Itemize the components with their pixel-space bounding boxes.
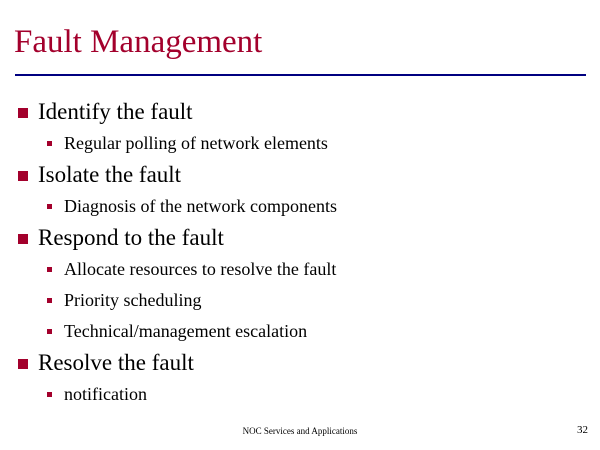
bullet-item: Identify the fault bbox=[0, 96, 600, 128]
sub-bullet-label: notification bbox=[64, 379, 147, 410]
sub-bullet-item: Priority scheduling bbox=[0, 285, 600, 316]
sub-bullet-item: Allocate resources to resolve the fault bbox=[0, 254, 600, 285]
presentation-slide: Fault Management Identify the faultRegul… bbox=[0, 0, 600, 450]
square-bullet-icon bbox=[18, 171, 28, 181]
sub-bullet-label: Diagnosis of the network components bbox=[64, 191, 337, 222]
square-bullet-icon bbox=[18, 108, 28, 118]
sub-bullet-item: Technical/management escalation bbox=[0, 316, 600, 347]
dot-bullet-icon bbox=[47, 267, 52, 272]
page-title: Fault Management bbox=[14, 22, 262, 62]
bullet-item: Respond to the fault bbox=[0, 222, 600, 254]
dot-bullet-icon bbox=[47, 392, 52, 397]
title-divider-rule bbox=[15, 74, 586, 76]
sub-bullet-item: Regular polling of network elements bbox=[0, 128, 600, 159]
dot-bullet-icon bbox=[47, 329, 52, 334]
bullet-label: Respond to the fault bbox=[38, 222, 224, 254]
square-bullet-icon bbox=[18, 234, 28, 244]
dot-bullet-icon bbox=[47, 204, 52, 209]
sub-bullet-label: Technical/management escalation bbox=[64, 316, 307, 347]
sub-bullet-label: Allocate resources to resolve the fault bbox=[64, 254, 336, 285]
slide-page-number: 32 bbox=[577, 423, 588, 437]
bullet-label: Identify the fault bbox=[38, 96, 193, 128]
footer-text: NOC Services and Applications bbox=[0, 425, 600, 437]
sub-bullet-item: Diagnosis of the network components bbox=[0, 191, 600, 222]
bullet-label: Resolve the fault bbox=[38, 347, 194, 379]
bullet-item: Resolve the fault bbox=[0, 347, 600, 379]
slide-body-list: Identify the faultRegular polling of net… bbox=[0, 96, 600, 410]
sub-bullet-label: Priority scheduling bbox=[64, 285, 202, 316]
dot-bullet-icon bbox=[47, 141, 52, 146]
square-bullet-icon bbox=[18, 359, 28, 369]
sub-bullet-label: Regular polling of network elements bbox=[64, 128, 328, 159]
bullet-label: Isolate the fault bbox=[38, 159, 181, 191]
sub-bullet-item: notification bbox=[0, 379, 600, 410]
bullet-item: Isolate the fault bbox=[0, 159, 600, 191]
dot-bullet-icon bbox=[47, 298, 52, 303]
